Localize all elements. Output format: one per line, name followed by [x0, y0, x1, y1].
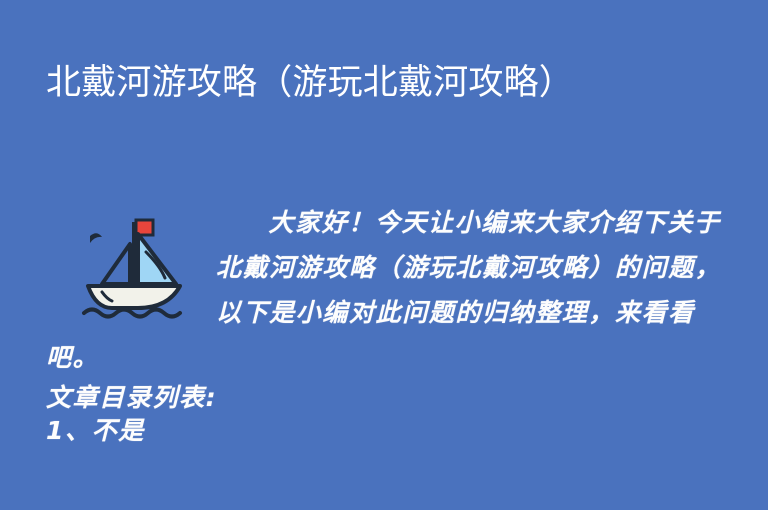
article-page: 北戴河游攻略（游玩北戴河攻略） 大家好！今天	[0, 0, 768, 510]
toc-item: 1、不是	[46, 414, 736, 447]
article-body: 大家好！今天让小编来大家介绍下关于北戴河游攻略（游玩北戴河攻略）的问题，以下是小…	[46, 200, 736, 447]
sailboat-icon	[76, 214, 216, 334]
page-title: 北戴河游攻略（游玩北戴河攻略）	[46, 56, 646, 109]
toc-heading: 文章目录列表:	[46, 381, 736, 414]
